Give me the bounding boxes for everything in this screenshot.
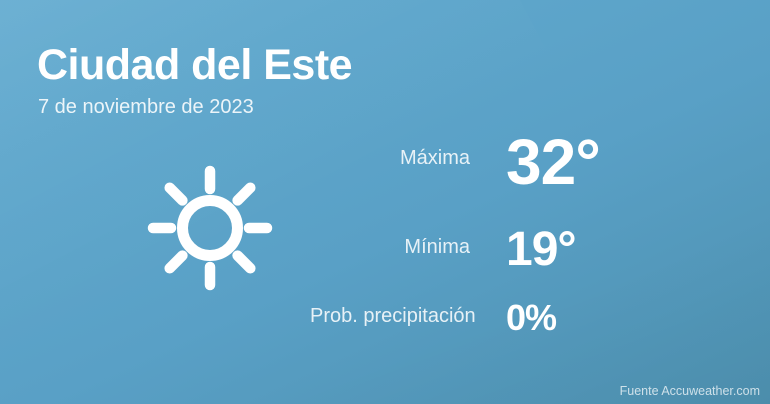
stat-value-minima: 19°: [506, 226, 576, 274]
stat-row-minima: Mínima 19°: [310, 226, 730, 300]
stat-label-precipitacion: Prob. precipitación: [310, 305, 506, 328]
forecast-stats: Máxima 32° Mínima 19° Prob. precipitació…: [310, 130, 730, 348]
sun-icon: [130, 148, 290, 308]
stat-value-precipitacion: 0%: [506, 300, 556, 336]
forecast-date: 7 de noviembre de 2023: [38, 95, 254, 119]
stat-label-minima: Mínima: [310, 236, 506, 259]
source-attribution: Fuente Accuweather.com: [620, 384, 760, 398]
stat-row-precipitacion: Prob. precipitación 0%: [310, 300, 730, 348]
stat-value-maxima: 32°: [506, 130, 600, 194]
stat-label-maxima: Máxima: [310, 147, 506, 170]
stat-row-maxima: Máxima 32°: [310, 130, 730, 226]
weather-card: Ciudad del Este 7 de noviembre de 2023: [0, 0, 770, 404]
page-title: Ciudad del Este: [37, 43, 352, 88]
